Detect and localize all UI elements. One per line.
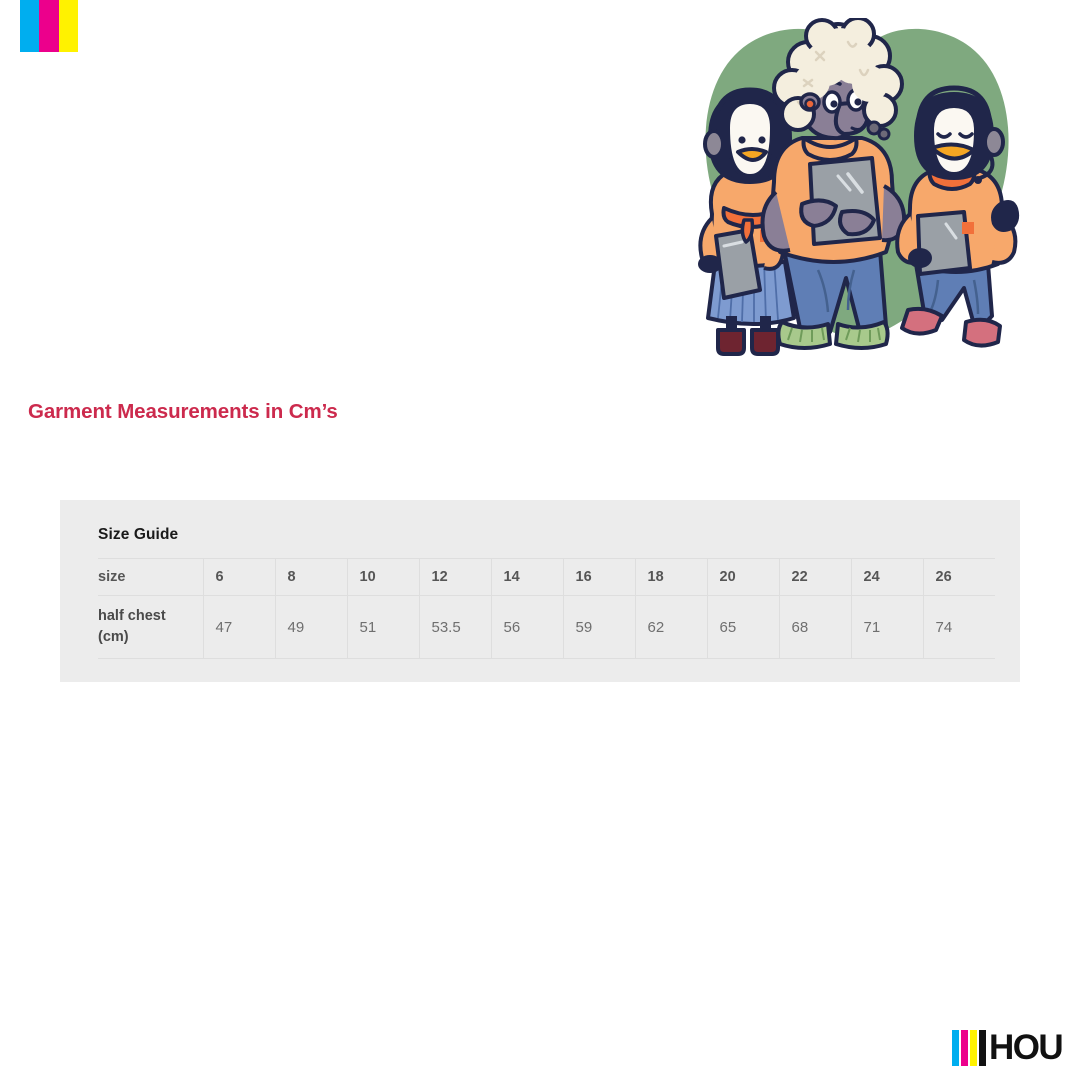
hou-wordmark: HOU	[989, 1030, 1062, 1066]
column-header-size-14: 14	[491, 559, 563, 596]
support-team-illustration	[688, 18, 1024, 370]
row-header-half-chest: half chest (cm)	[98, 596, 203, 659]
column-header-size: size	[98, 559, 203, 596]
column-header-size-22: 22	[779, 559, 851, 596]
column-header-size-16: 16	[563, 559, 635, 596]
cell-half-chest-size-26: 74	[923, 596, 995, 659]
hou-logo-bars	[952, 1030, 986, 1066]
column-header-size-20: 20	[707, 559, 779, 596]
size-guide-table: size 6 8 10 12 14 16 18 20 22 24 26 half…	[98, 558, 995, 659]
row-header-line-2: (cm)	[98, 629, 129, 645]
cell-half-chest-size-18: 62	[635, 596, 707, 659]
cell-half-chest-size-8: 49	[275, 596, 347, 659]
cell-half-chest-size-14: 56	[491, 596, 563, 659]
column-header-size-8: 8	[275, 559, 347, 596]
brand-color-bar	[20, 0, 78, 52]
cell-half-chest-size-22: 68	[779, 596, 851, 659]
row-header-line-1: half chest	[98, 608, 166, 624]
swatch-magenta	[39, 0, 58, 52]
column-header-size-12: 12	[419, 559, 491, 596]
swatch-yellow	[59, 0, 78, 52]
cell-half-chest-size-12: 53.5	[419, 596, 491, 659]
hou-bar-magenta	[961, 1030, 968, 1066]
column-header-size-18: 18	[635, 559, 707, 596]
column-header-size-6: 6	[203, 559, 275, 596]
page-title: Garment Measurements in Cm’s	[28, 400, 338, 424]
hou-bar-yellow	[970, 1030, 977, 1066]
size-guide-heading: Size Guide	[98, 526, 994, 544]
column-header-size-24: 24	[851, 559, 923, 596]
column-header-size-26: 26	[923, 559, 995, 596]
hou-bar-black	[979, 1030, 986, 1066]
cell-half-chest-size-24: 71	[851, 596, 923, 659]
column-header-size-10: 10	[347, 559, 419, 596]
hou-logo: HOU	[952, 1030, 1062, 1066]
cell-half-chest-size-10: 51	[347, 596, 419, 659]
size-guide-panel: Size Guide size 6 8 10 12 14 16 18 20 22…	[60, 500, 1020, 682]
table-row: half chest (cm) 47 49 51 53.5 56 59 62 6…	[98, 596, 995, 659]
swatch-cyan	[20, 0, 39, 52]
cell-half-chest-size-20: 65	[707, 596, 779, 659]
hou-bar-cyan	[952, 1030, 959, 1066]
cell-half-chest-size-6: 47	[203, 596, 275, 659]
cell-half-chest-size-16: 59	[563, 596, 635, 659]
table-header-row: size 6 8 10 12 14 16 18 20 22 24 26	[98, 559, 995, 596]
